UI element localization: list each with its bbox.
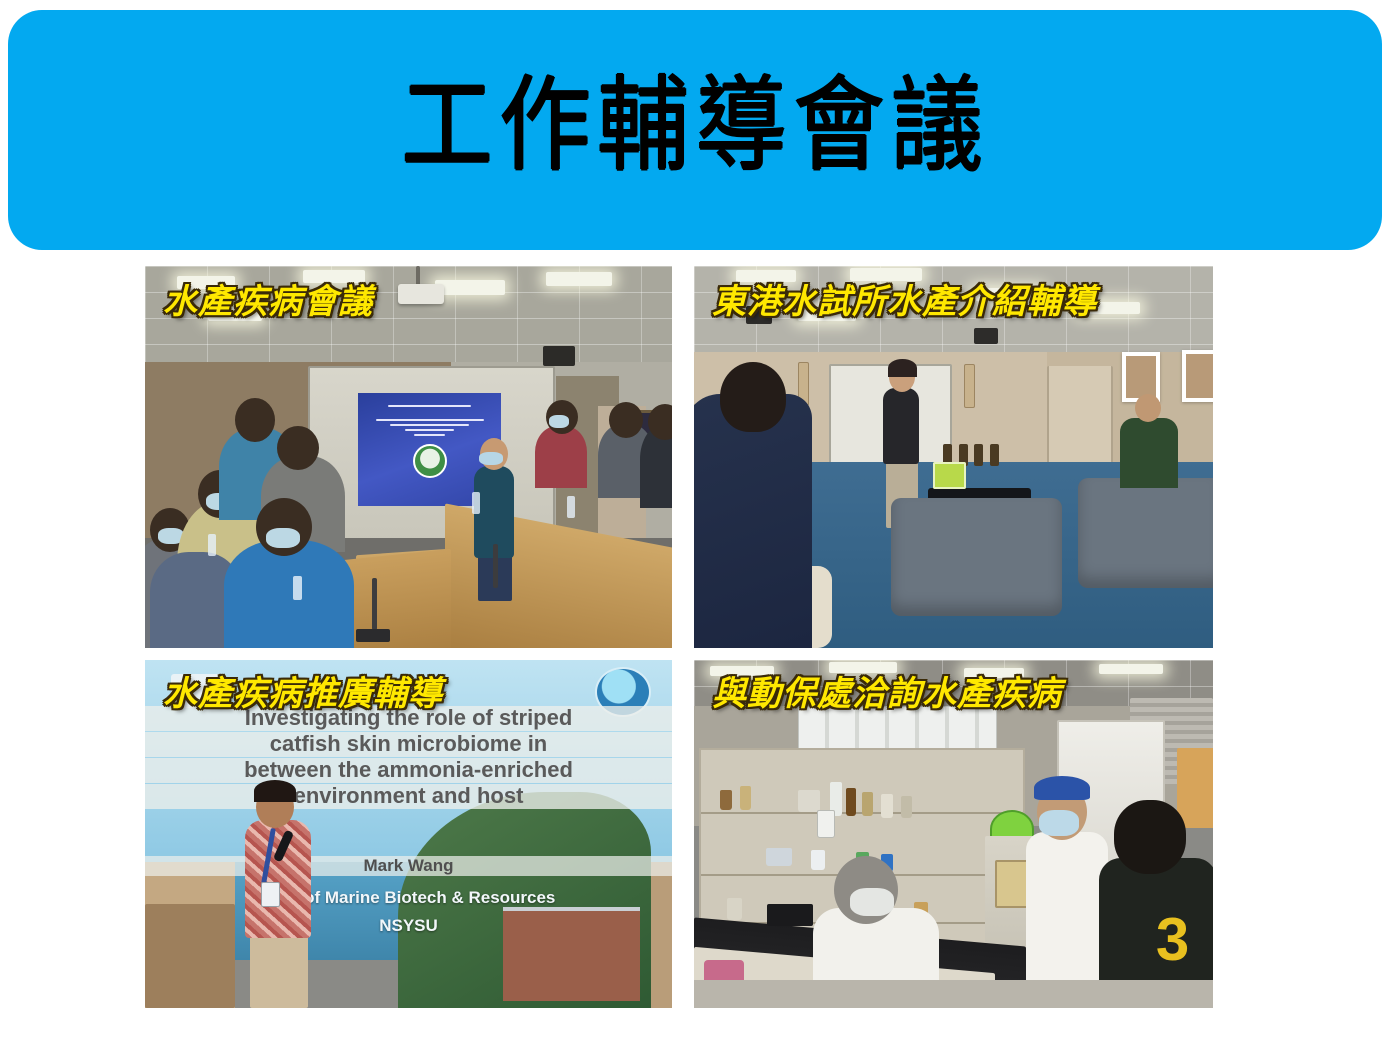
reagent-bottle bbox=[862, 792, 873, 816]
lab-container bbox=[811, 850, 825, 870]
reagent-bottle bbox=[720, 790, 732, 810]
ceiling-light bbox=[1099, 664, 1163, 674]
face-mask bbox=[266, 528, 300, 548]
posted-note bbox=[817, 810, 835, 838]
jersey-number: 3 bbox=[1156, 910, 1189, 970]
lab-container bbox=[727, 898, 742, 920]
sofa-right bbox=[1078, 478, 1213, 588]
slide-title-line-4: environment and host bbox=[145, 784, 509, 809]
face-mask bbox=[1039, 810, 1079, 836]
product-box bbox=[933, 462, 966, 489]
foreground-attendee-torso bbox=[694, 394, 812, 648]
laptop bbox=[767, 904, 813, 926]
name-badge bbox=[261, 882, 280, 907]
attendee-foreground bbox=[224, 540, 354, 648]
reagent-bottle bbox=[846, 788, 856, 816]
slide-logo-icon bbox=[413, 444, 447, 478]
gooseneck-microphone bbox=[493, 544, 498, 588]
photo-caption: 東港水試所水產介紹輔導 bbox=[712, 274, 1097, 323]
face-mask bbox=[549, 415, 569, 428]
supply-carton bbox=[798, 790, 820, 812]
water-bottle bbox=[567, 496, 575, 518]
projector-mount-rod bbox=[416, 266, 420, 286]
speaker-hair bbox=[254, 780, 296, 802]
lab-tray bbox=[766, 848, 792, 866]
face-mask bbox=[479, 452, 503, 465]
staff-cap bbox=[1034, 776, 1090, 800]
sample-bottle bbox=[974, 444, 983, 466]
page-title: 工作輔導會議 bbox=[401, 74, 989, 177]
speaker-legs bbox=[250, 934, 308, 1008]
slide-title-line-3: between the ammonia-enriched bbox=[145, 758, 509, 783]
slide-text-line bbox=[376, 419, 484, 421]
floor bbox=[694, 980, 1213, 1008]
photo-card-disease-outreach[interactable]: Investigating the role of striped catfis… bbox=[145, 660, 672, 1008]
ceiling-projector bbox=[398, 284, 444, 304]
photo-caption: 水產疾病會議 bbox=[163, 274, 373, 323]
photo-scene-conference-room bbox=[145, 266, 672, 648]
photo-card-donggang-fisheries-intro[interactable]: 東港水試所水產介紹輔導 bbox=[694, 266, 1213, 648]
seated-attendee-head bbox=[1135, 394, 1161, 422]
wall-speaker bbox=[543, 346, 575, 366]
attendee-head bbox=[235, 398, 275, 442]
attendee bbox=[535, 426, 587, 488]
slide-presenter-name: Mark Wang bbox=[145, 856, 509, 876]
photo-card-conference-meeting[interactable]: 水產疾病會議 bbox=[145, 266, 672, 648]
photo-scene-lounge-room bbox=[694, 266, 1213, 648]
reagent-bottle bbox=[881, 794, 893, 818]
reagent-bottle bbox=[740, 786, 751, 810]
slide-title-line-2: catfish skin microbiome in bbox=[145, 732, 509, 757]
wall-poster bbox=[1177, 748, 1213, 828]
slide-text-line bbox=[414, 434, 445, 436]
face-mask bbox=[850, 888, 894, 916]
speaker-torso bbox=[245, 820, 311, 938]
microphone-base bbox=[356, 629, 390, 642]
presenter-torso bbox=[883, 388, 919, 464]
attendee-head bbox=[277, 426, 319, 470]
sofa-center bbox=[891, 498, 1062, 616]
water-bottle bbox=[472, 492, 480, 514]
water-bottle bbox=[208, 534, 216, 556]
slide-text-line bbox=[388, 405, 471, 407]
photo-caption: 與動保處洽詢水產疾病 bbox=[712, 666, 1062, 715]
ceiling-projector bbox=[974, 328, 998, 344]
ceiling-light bbox=[546, 272, 612, 286]
presenter-hair bbox=[888, 359, 917, 377]
seated-attendee-torso bbox=[1120, 418, 1178, 488]
podium bbox=[145, 904, 235, 1008]
photo-caption: 水產疾病推廣輔導 bbox=[163, 666, 443, 715]
foreground-attendee-head bbox=[720, 362, 786, 432]
ceiling-light bbox=[435, 280, 505, 295]
wall-scroll bbox=[964, 364, 975, 408]
slide-text-line bbox=[405, 429, 453, 431]
student-head bbox=[1114, 800, 1186, 874]
photo-card-animal-protection-consult[interactable]: 3 與動保處洽詢水產疾病 bbox=[694, 660, 1213, 1008]
sample-bottle bbox=[990, 444, 999, 466]
gooseneck-microphone bbox=[372, 578, 377, 630]
title-banner: 工作輔導會議 bbox=[8, 10, 1382, 250]
attendee-head bbox=[609, 402, 643, 438]
slide-text-line bbox=[390, 424, 470, 426]
framed-artwork bbox=[1182, 350, 1213, 402]
reagent-bottle bbox=[901, 796, 912, 818]
water-bottle bbox=[293, 576, 302, 600]
